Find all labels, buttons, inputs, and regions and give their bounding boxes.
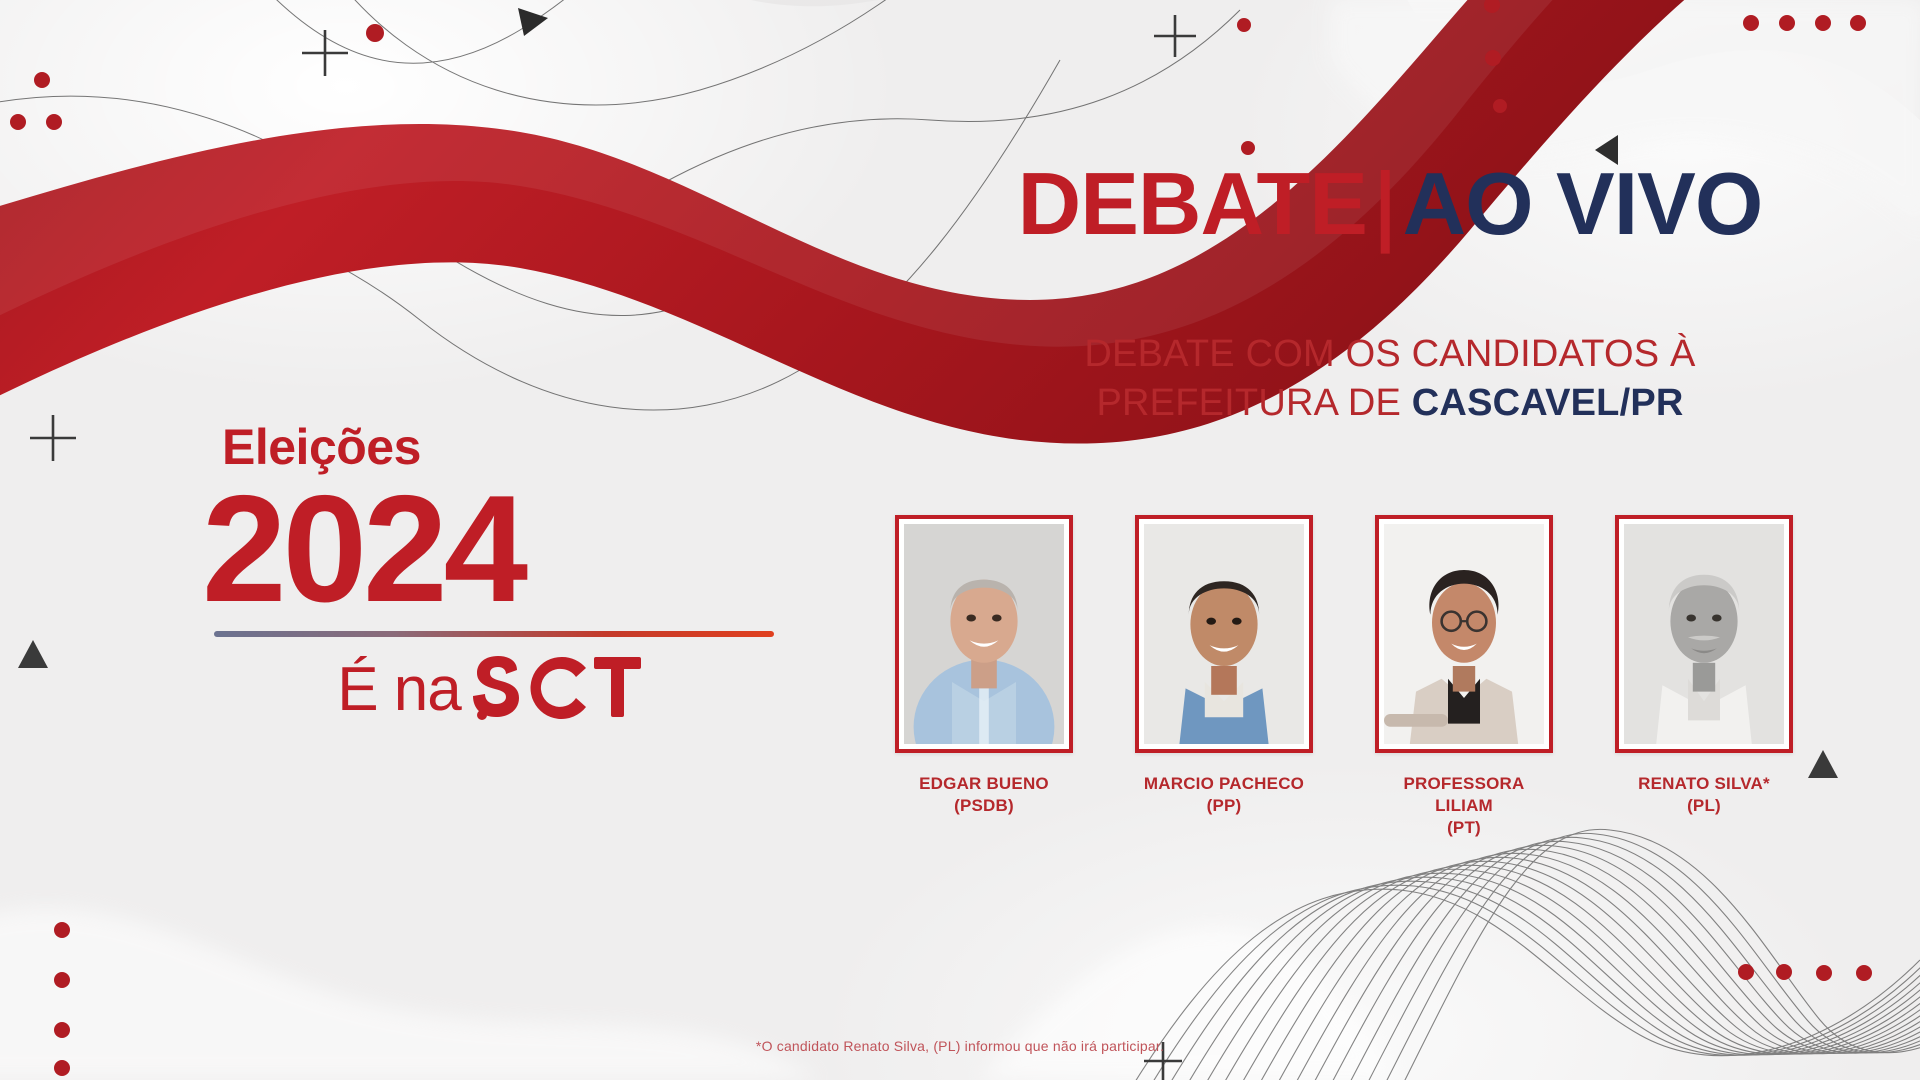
candidate-name-text-0: EDGAR BUENO — [919, 774, 1049, 793]
broadcaster-row: É na — [210, 655, 770, 721]
candidate-photo-3 — [1624, 524, 1784, 744]
candidate-card-2[interactable]: PROFESSORA LILIAM (PT) — [1375, 515, 1553, 838]
candidates-row: EDGAR BUENO (PSDB) — [895, 515, 1793, 838]
subtitle-line-2: PREFEITURA DE CASCAVEL/PR — [930, 379, 1850, 428]
subtitle-city: CASCAVEL/PR — [1412, 382, 1684, 424]
headline: DEBATE|AO VIVO — [930, 160, 1850, 248]
election-brand-block: Eleições 2024 É na — [210, 418, 790, 721]
headline-live: AO VIVO — [1403, 154, 1763, 253]
candidate-photo-frame-0 — [895, 515, 1073, 753]
headline-separator: | — [1371, 160, 1400, 248]
candidate-party-1: (PP) — [1135, 795, 1313, 817]
candidate-name-2: PROFESSORA LILIAM (PT) — [1375, 773, 1553, 838]
candidate-name-text-2: PROFESSORA LILIAM — [1403, 774, 1524, 815]
candidate-photo-frame-3 — [1615, 515, 1793, 753]
headline-block: DEBATE|AO VIVO — [930, 160, 1850, 248]
candidate-photo-2 — [1384, 524, 1544, 744]
candidate-card-3[interactable]: RENATO SILVA* (PL) — [1615, 515, 1793, 838]
candidate-photo-frame-1 — [1135, 515, 1313, 753]
curve-arrow-icon — [518, 8, 548, 36]
candidate-party-0: (PSDB) — [895, 795, 1073, 817]
footer-disclaimer: *O candidato Renato Silva, (PL) informou… — [0, 1038, 1920, 1054]
candidate-name-0: EDGAR BUENO (PSDB) — [895, 773, 1073, 817]
subtitle-block: DEBATE COM OS CANDIDATOS À PREFEITURA DE… — [930, 330, 1850, 427]
subtitle-prefix: PREFEITURA DE — [1096, 382, 1411, 424]
candidate-party-2: (PT) — [1375, 817, 1553, 839]
candidate-party-3: (PL) — [1615, 795, 1793, 817]
candidate-name-text-1: MARCIO PACHECO — [1144, 774, 1304, 793]
poster-canvas: DEBATE|AO VIVO DEBATE COM OS CANDIDATOS … — [0, 0, 1920, 1080]
candidate-photo-1 — [1144, 524, 1304, 744]
election-year: 2024 — [202, 478, 790, 621]
tagline-prefix: É na — [337, 659, 461, 721]
subtitle-line-1: DEBATE COM OS CANDIDATOS À — [930, 330, 1850, 379]
candidate-name-text-3: RENATO SILVA* — [1638, 774, 1770, 793]
candidate-card-1[interactable]: MARCIO PACHECO (PP) — [1135, 515, 1313, 838]
candidate-photo-0 — [904, 524, 1064, 744]
candidate-name-3: RENATO SILVA* (PL) — [1615, 773, 1793, 817]
headline-debate: DEBATE — [1018, 154, 1367, 253]
candidate-photo-frame-2 — [1375, 515, 1553, 753]
sot-logo-icon — [473, 655, 643, 721]
candidate-card-0[interactable]: EDGAR BUENO (PSDB) — [895, 515, 1073, 838]
candidate-name-1: MARCIO PACHECO (PP) — [1135, 773, 1313, 817]
